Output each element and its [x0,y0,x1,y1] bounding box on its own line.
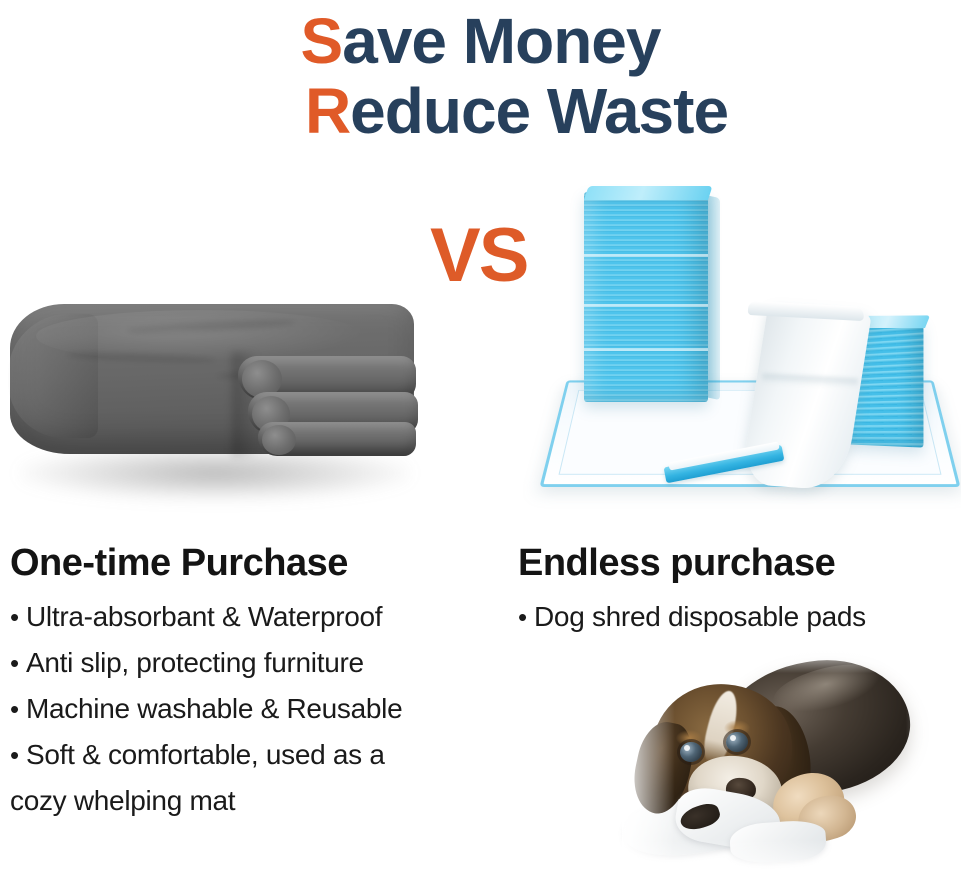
list-item-label: Soft & comfortable, used as a [26,732,490,778]
puppy-eye-glint-left [684,745,690,751]
blanket-roll-end [262,425,296,455]
left-column-heading: One-time Purchase [10,540,490,586]
list-item-label: Machine washable & Reusable [26,686,490,732]
list-item: • Soft & comfortable, used as a [10,732,490,778]
stack-band [584,304,708,307]
bullet-marker-icon: • [518,594,534,640]
bullet-marker-icon: • [10,640,26,686]
list-item: • Machine washable & Reusable [10,686,490,732]
list-item-continuation-label: cozy whelping mat [10,778,490,824]
headline-line-2-rest: educe Waste [350,75,728,147]
left-benefit-column: One-time Purchase • Ultra-absorbant & Wa… [10,540,490,824]
list-item: • Anti slip, protecting furniture [10,640,490,686]
right-column-heading: Endless purchase [518,540,958,586]
headline-line-1: Save Money [0,6,961,76]
tall-pad-stack [584,192,708,402]
headline-line-2: Reduce Waste [0,76,961,146]
pee-pads-product-image [548,180,956,510]
list-item-label: Anti slip, protecting furniture [26,640,490,686]
right-bullet-list: • Dog shred disposable pads [518,594,958,640]
list-item-label: Dog shred disposable pads [534,594,958,640]
stack-band [584,348,708,351]
bullet-marker-icon: • [10,594,26,640]
list-item-label: Ultra-absorbant & Waterproof [26,594,490,640]
list-item-continuation: cozy whelping mat [10,778,490,824]
left-bullet-list: • Ultra-absorbant & Waterproof • Anti sl… [10,594,490,824]
headline-initial-r: R [305,75,350,147]
headline-line-1-rest: ave Money [342,5,660,77]
bullet-marker-icon: • [10,686,26,732]
blanket-product-image [6,296,426,521]
puppy-eye-glint-right [730,735,736,741]
bullet-marker-icon: • [10,732,26,778]
headline-block: Save Money Reduce Waste [0,6,961,146]
tall-stack-top [584,186,713,200]
right-drawback-column: Endless purchase • Dog shred disposable … [518,540,958,640]
versus-label: VS [430,218,527,294]
list-item: • Ultra-absorbant & Waterproof [10,594,490,640]
list-item: • Dog shred disposable pads [518,594,958,640]
stack-band [584,254,708,257]
puppy-photo [622,646,952,872]
headline-initial-s: S [301,5,343,77]
infographic-page: Save Money Reduce Waste VS [0,0,961,875]
